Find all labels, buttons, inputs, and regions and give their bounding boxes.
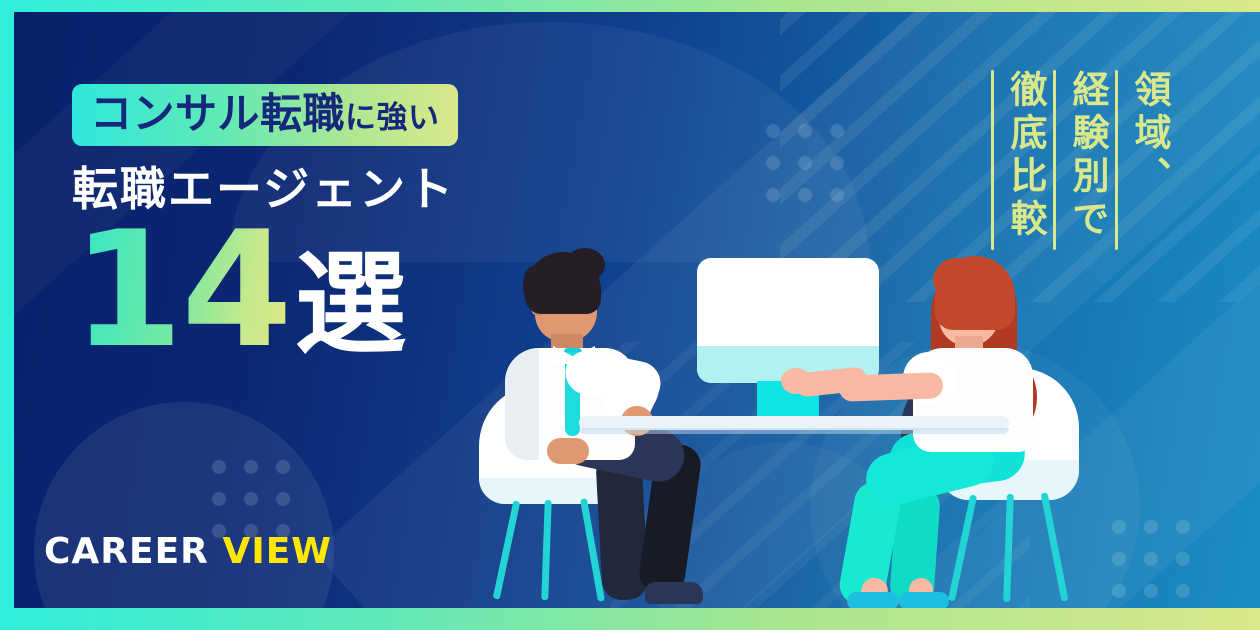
headline-count: 14 選 (72, 216, 692, 363)
count-number: 14 (72, 216, 291, 363)
chair-right-leg (1041, 492, 1069, 601)
vertical-copy-block: 領域、 経験別で 徹底比較 (982, 70, 1168, 250)
headline-block: コンサル転職に強い 転職エージェント 14 選 (72, 84, 692, 363)
dot-grid-icon (766, 124, 844, 202)
dot-grid-icon (212, 460, 290, 538)
dot-grid-icon (1112, 520, 1190, 598)
man-shoe (645, 582, 703, 604)
vertical-copy-text: 徹底比較 (1007, 70, 1044, 242)
vertical-copy-column: 徹底比較 (991, 70, 1044, 250)
count-unit: 選 (295, 254, 407, 363)
banner-root: コンサル転職に強い 転職エージェント 14 選 領域、 経験別で 徹底比較 (0, 0, 1260, 630)
vertical-rule (991, 70, 994, 250)
chair-left-leg (541, 500, 551, 600)
woman-hair-fringe (933, 258, 995, 292)
vertical-rule (1115, 70, 1118, 250)
badge-main-text: コンサル転職 (90, 89, 345, 138)
desk-edge (579, 428, 1009, 434)
vertical-rule (1053, 70, 1056, 250)
vertical-copy-column: 領域、 (1115, 70, 1168, 250)
chair-right-leg (1003, 494, 1014, 602)
logo-primary: CAREER (44, 531, 209, 572)
chair-right-leg (948, 494, 977, 601)
chair-left-leg (493, 500, 521, 599)
logo-secondary: VIEW (222, 531, 332, 572)
vertical-copy-text: 領域、 (1131, 70, 1168, 199)
woman-shoe (847, 592, 899, 608)
vertical-copy-text: 経験別で (1069, 70, 1106, 242)
badge-suffix-text: に強い (345, 100, 440, 136)
man-shirt-shadow (505, 348, 539, 460)
brand-logo: CAREER VIEW (44, 531, 332, 572)
woman-hand (781, 368, 811, 394)
man-hand (547, 438, 589, 464)
woman-shoe (899, 592, 949, 608)
vertical-copy-column: 経験別で (1053, 70, 1106, 250)
headline-badge: コンサル転職に強い (72, 84, 458, 146)
banner-stage: コンサル転職に強い 転職エージェント 14 選 領域、 経験別で 徹底比較 (14, 12, 1260, 608)
